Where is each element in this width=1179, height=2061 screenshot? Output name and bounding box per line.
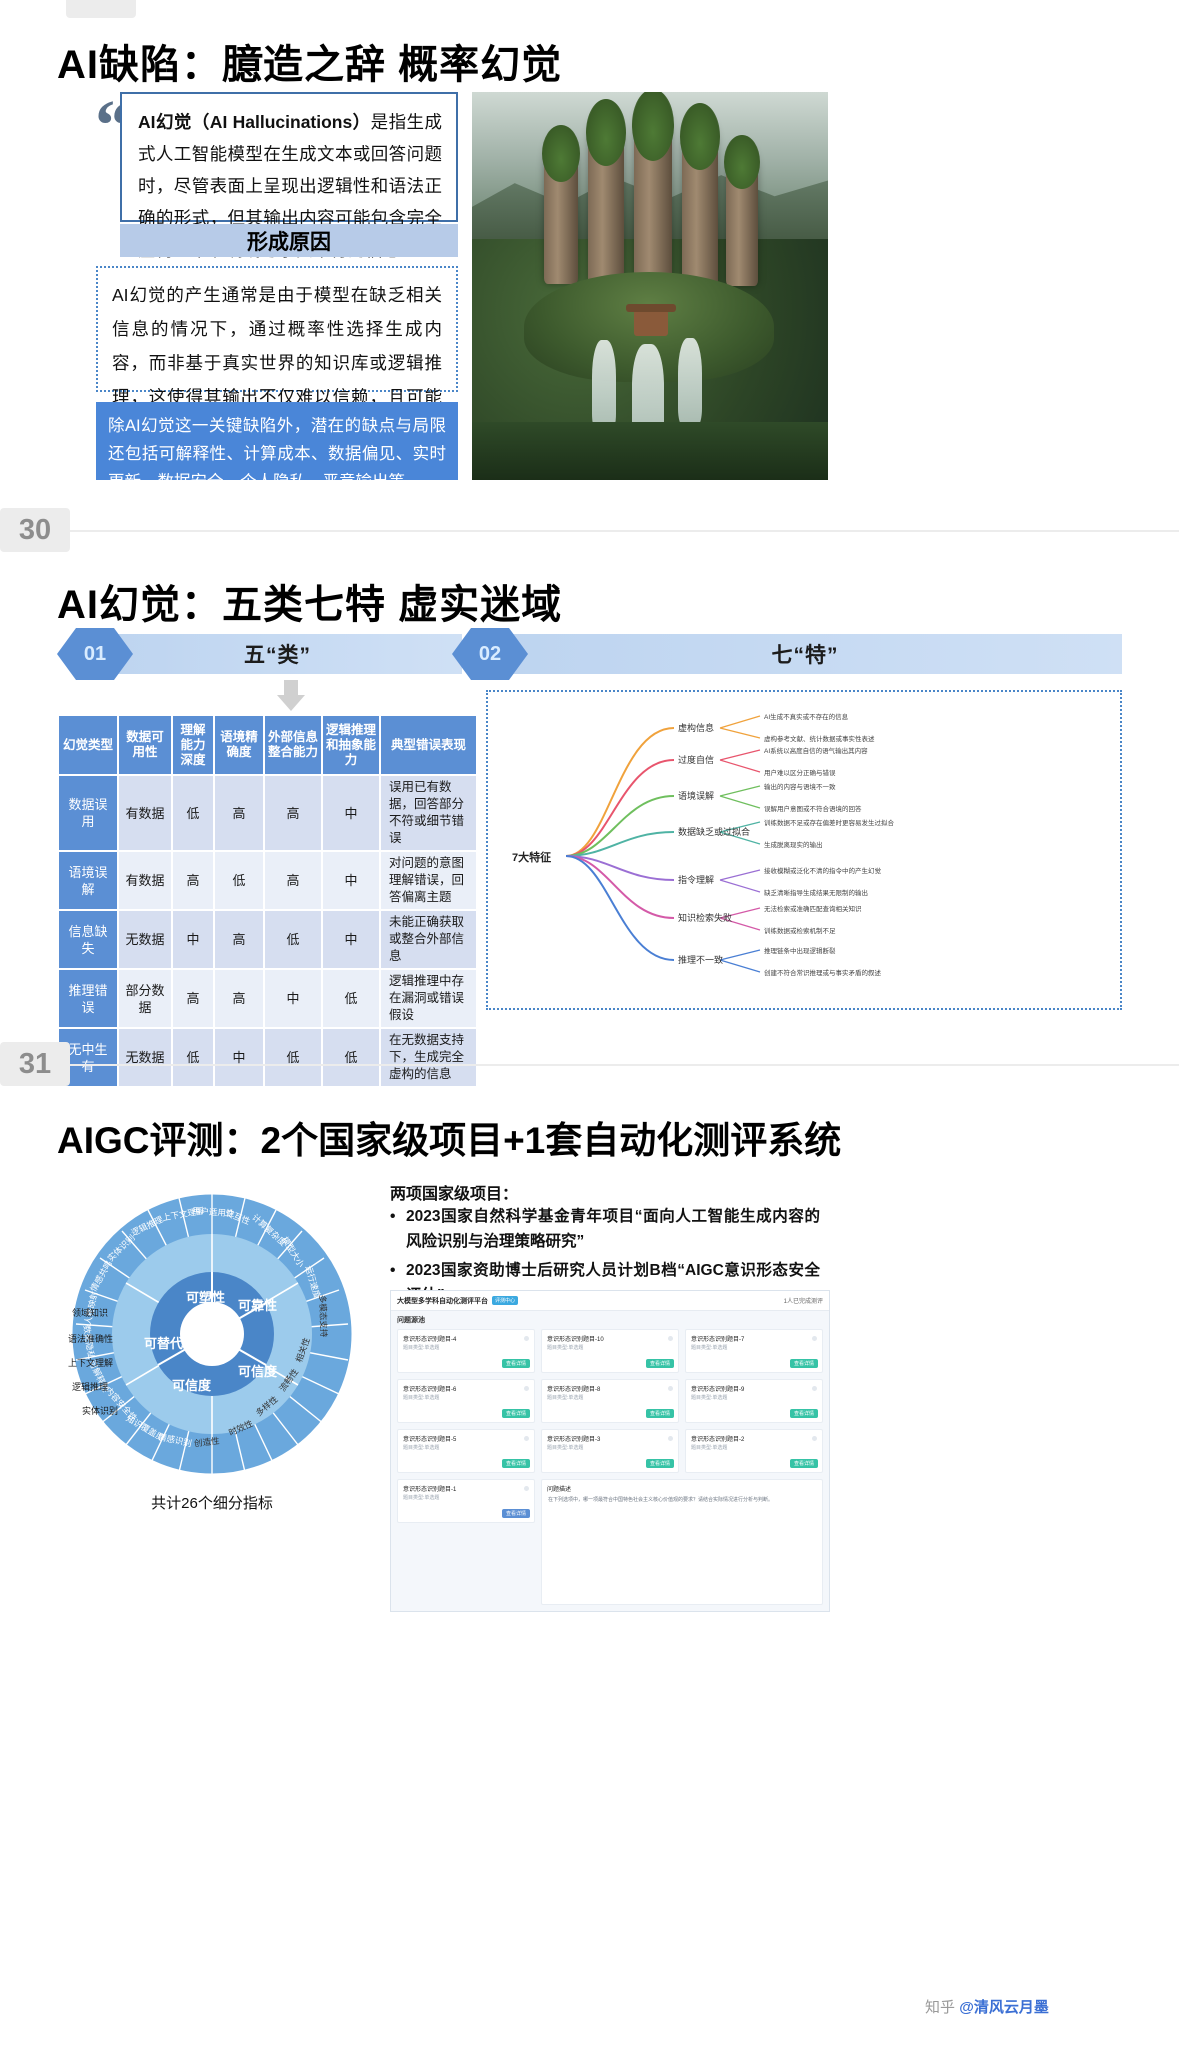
- list-item[interactable]: 意识形态识别题目-4 题目类型:单选题 查看详情: [397, 1329, 535, 1373]
- limitations-note-box: 除AI幻觉这一关键缺陷外，潜在的缺点与局限还包括可解释性、计算成本、数据偏见、实…: [96, 402, 458, 480]
- th-context-accuracy: 语境精确度: [215, 716, 263, 774]
- table-row: 语境误解 有数据 高 低 高 中 对问题的意图理解错误，回答偏离主题: [59, 852, 476, 909]
- list-item[interactable]: 意识形态识别题目-10 题目类型:单选题 查看详情: [541, 1329, 679, 1373]
- card-title: 意识形态识别题目-7: [691, 1334, 744, 1343]
- photo-waterfall-left: [592, 340, 616, 432]
- watermark: 知乎 @清风云月墨: [925, 1996, 1049, 2017]
- cell-context: 高: [215, 911, 263, 968]
- th-external-integration: 外部信息整合能力: [265, 716, 321, 774]
- ruler-30: [0, 530, 1179, 532]
- cell-type: 推理错误: [59, 970, 117, 1027]
- cause-header-label: 形成原因: [247, 226, 331, 256]
- sunburst-hub: [180, 1302, 244, 1366]
- card-action-button[interactable]: 查看详情: [790, 1459, 818, 1468]
- card-action-button[interactable]: 查看详情: [502, 1459, 530, 1468]
- evaluation-platform-screenshot: 大模型多学科自动化测评平台 评测中心 1人已完成测评 问题源池 意识形态识别题目…: [390, 1290, 830, 1612]
- table-row: 推理错误 部分数据 高 高 中 低 逻辑推理中存在漏洞或错误假设: [59, 970, 476, 1027]
- mindmap-branch-label: 指令理解: [678, 873, 714, 886]
- platform-title: 大模型多学科自动化测评平台: [397, 1296, 488, 1306]
- projects-header: 两项国家级项目：: [390, 1180, 518, 1204]
- platform-user-status: 1人已完成测评: [784, 1296, 823, 1305]
- mindmap-branch-label: 语境误解: [678, 789, 714, 802]
- cell-error: 误用已有数据，回答部分不符或细节错误: [381, 776, 476, 850]
- card-status-dot: [524, 1336, 529, 1341]
- card-status-dot: [524, 1486, 529, 1491]
- cell-error: 在无数据支持下，生成完全虚构的信息: [381, 1029, 476, 1086]
- card-title: 意识形态识别题目-8: [547, 1384, 600, 1393]
- photo-foreground-trees: [472, 422, 828, 480]
- cell-error: 逻辑推理中存在漏洞或错误假设: [381, 970, 476, 1027]
- card-title: 意识形态识别题目-6: [403, 1384, 456, 1393]
- stone-finger-1: [544, 134, 578, 284]
- section-02-label: 七“特”: [772, 639, 839, 669]
- cell-data: 部分数据: [119, 970, 171, 1027]
- list-item[interactable]: 意识形态识别题目-3 题目类型:单选题 查看详情: [541, 1429, 679, 1473]
- sunburst-caption: 共计26个细分指标: [62, 1492, 362, 1513]
- card-title: 意识形态识别题目-1: [403, 1484, 456, 1493]
- cause-header-band: 形成原因: [120, 224, 458, 257]
- cell-context: 中: [215, 1029, 263, 1086]
- card-status-dot: [812, 1436, 817, 1441]
- section-band-01-bar: 五“类”: [93, 634, 462, 674]
- cell-depth: 高: [173, 852, 213, 909]
- card-action-button[interactable]: 查看详情: [646, 1359, 674, 1368]
- photo-pagoda: [634, 310, 668, 336]
- mindmap-leaf: AI系统以高度自信的语气输出其内容: [764, 745, 868, 755]
- card-action-button[interactable]: 查看详情: [646, 1409, 674, 1418]
- mindmap-leaf: 接收模糊或泛化不清的指令中的产生幻觉: [764, 865, 881, 875]
- section-01-number: 01: [84, 643, 106, 666]
- mindmap-leaf: 虚构参考文献、统计数据或事实性表述: [764, 733, 875, 743]
- th-type: 幻觉类型: [59, 716, 117, 774]
- page-number-30: 30: [0, 508, 70, 552]
- card-action-button[interactable]: 查看详情: [790, 1409, 818, 1418]
- cell-depth: 中: [173, 911, 213, 968]
- cell-external: 低: [265, 1029, 321, 1086]
- page-number-31: 31: [0, 1042, 70, 1086]
- mindmap-leaf: 创建不符合常识推理或与事实矛盾的叙述: [764, 967, 881, 977]
- mindmap-leaf: 用户难以区分正确与错误: [764, 767, 836, 777]
- card-action-button[interactable]: 查看详情: [502, 1409, 530, 1418]
- platform-topbar: 大模型多学科自动化测评平台 评测中心 1人已完成测评: [391, 1291, 829, 1311]
- stone-finger-4: [682, 114, 718, 290]
- platform-section-label: 问题源池: [397, 1315, 425, 1325]
- slide-aigc-evaluation: AIGC评测：2个国家级项目+1套自动化测评系统: [0, 1092, 1179, 1972]
- card-subtitle: 题目类型:单选题: [691, 1394, 727, 1401]
- slide-ai-defect: AI缺陷：臆造之辞 概率幻觉 “ AI幻觉（AI Hallucinations）…: [0, 0, 1179, 520]
- card-action-button[interactable]: 查看详情: [790, 1359, 818, 1368]
- page-title-slide1: AI缺陷：臆造之辞 概率幻觉: [57, 32, 562, 90]
- definition-box: AI幻觉（AI Hallucinations）是指生成式人工智能模型在生成文本或…: [120, 92, 458, 222]
- card-title: 意识形态识别题目-5: [403, 1434, 456, 1443]
- sunburst-inner-label: 可靠性: [238, 1298, 277, 1313]
- card-status-dot: [668, 1336, 673, 1341]
- section-01-label: 五“类”: [244, 639, 311, 669]
- card-status-dot: [524, 1386, 529, 1391]
- card-subtitle: 题目类型:单选题: [403, 1494, 439, 1501]
- th-logic-abstraction: 逻辑推理和抽象能力: [323, 716, 379, 774]
- seven-features-mindmap: 7大特征 虚构信息 AI生成不真实或不存在的信息 虚构参考文献、统计数据或事实性…: [486, 690, 1122, 1010]
- list-item[interactable]: 意识形态识别题目-7 题目类型:单选题 查看详情: [685, 1329, 823, 1373]
- mindmap-branch-label: 推理不一致: [678, 953, 723, 966]
- cell-depth: 低: [173, 776, 213, 850]
- section-02-number: 02: [479, 643, 501, 666]
- card-title: 意识形态识别题目-3: [547, 1434, 600, 1443]
- list-item[interactable]: 意识形态识别题目-9 题目类型:单选题 查看详情: [685, 1379, 823, 1423]
- mindmap-leaf: 训练数据或检索机制不足: [764, 925, 836, 935]
- cell-depth: 高: [173, 970, 213, 1027]
- cell-external: 中: [265, 970, 321, 1027]
- sunburst-inner-label: 可信度: [172, 1378, 212, 1393]
- stone-finger-3: [634, 100, 672, 290]
- cell-data: 有数据: [119, 776, 171, 850]
- photo-waterfall-right: [678, 338, 702, 426]
- sunburst-inner-label: 可塑性: [186, 1290, 225, 1305]
- mindmap-leaf: 缺乏清晰指导生成结果无限制的输出: [764, 887, 868, 897]
- platform-badge: 评测中心: [492, 1296, 518, 1305]
- cell-type: 数据误用: [59, 776, 117, 850]
- list-item[interactable]: 意识形态识别题目-1 题目类型:单选题 查看详情: [397, 1479, 535, 1523]
- mindmap-leaf: 无法检索或准确匹配查询相关知识: [764, 903, 862, 913]
- hero-photo: [472, 92, 828, 480]
- cell-external: 低: [265, 911, 321, 968]
- th-data-availability: 数据可用性: [119, 716, 171, 774]
- cell-external: 高: [265, 852, 321, 909]
- definition-term: AI幻觉（AI Hallucinations）: [138, 112, 371, 132]
- card-status-dot: [812, 1386, 817, 1391]
- section-band-02-bar: 七“特”: [488, 634, 1122, 674]
- cell-context: 高: [215, 776, 263, 850]
- table-row: 无中生有 无数据 低 中 低 低 在无数据支持下，生成完全虚构的信息: [59, 1029, 476, 1086]
- stone-finger-2: [588, 110, 624, 286]
- table-row: 信息缺失 无数据 中 高 低 中 未能正确获取或整合外部信息: [59, 911, 476, 968]
- mindmap-leaf: 输出的内容与语境不一致: [764, 781, 836, 791]
- question-detail-panel: 问题描述 在下列选项中，哪一项最符合中国特色社会主义核心价值观的要求？请结合实际…: [541, 1479, 823, 1605]
- mindmap-branch-label: 过度自信: [678, 753, 714, 766]
- cell-logic: 中: [323, 776, 379, 850]
- cell-type: 信息缺失: [59, 911, 117, 968]
- card-status-dot: [668, 1436, 673, 1441]
- sunburst-svg: 可塑性 可靠性 可信度 可信度 可替代性: [62, 1184, 362, 1484]
- ruler-31: [0, 1064, 1179, 1066]
- card-subtitle: 题目类型:单选题: [403, 1394, 439, 1401]
- limitations-note-text: 除AI幻觉这一关键缺陷外，潜在的缺点与局限还包括可解释性、计算成本、数据偏见、实…: [108, 412, 446, 496]
- cell-data: 无数据: [119, 911, 171, 968]
- mindmap-leaf: 推理链条中出现逻辑断裂: [764, 945, 836, 955]
- sunburst-inner-label: 可信度: [238, 1364, 278, 1379]
- watermark-prefix: 知乎: [925, 1999, 955, 2016]
- question-detail-title: 问题描述: [547, 1484, 571, 1493]
- slide-ai-hallucination-types: AI幻觉：五类七特 虚实迷域 五“类” 01 七“特” 02 幻觉类型 数据可用…: [0, 556, 1179, 1056]
- watermark-handle: @清风云月墨: [959, 1999, 1049, 2016]
- table-row: 数据误用 有数据 低 高 高 中 误用已有数据，回答部分不符或细节错误: [59, 776, 476, 850]
- list-item[interactable]: 意识形态识别题目-8 题目类型:单选题 查看详情: [541, 1379, 679, 1423]
- card-subtitle: 题目类型:单选题: [691, 1344, 727, 1351]
- sunburst-inner-label: 可替代性: [144, 1336, 196, 1351]
- cell-logic: 中: [323, 852, 379, 909]
- question-detail-text: 在下列选项中，哪一项最符合中国特色社会主义核心价值观的要求？请结合实际情况进行分…: [548, 1496, 816, 1504]
- cell-logic: 低: [323, 970, 379, 1027]
- mindmap-branch-label: 知识检索失败: [678, 911, 732, 924]
- section-band-01: 五“类” 01: [57, 634, 462, 674]
- card-subtitle: 题目类型:单选题: [547, 1394, 583, 1401]
- mindmap-branch-label: 虚构信息: [678, 721, 714, 734]
- top-chip: [66, 0, 136, 18]
- hallucination-types-table: 幻觉类型 数据可用性 理解能力深度 语境精确度 外部信息整合能力 逻辑推理和抽象…: [57, 714, 478, 1088]
- card-subtitle: 题目类型:单选题: [691, 1444, 727, 1451]
- card-status-dot: [668, 1386, 673, 1391]
- cell-logic: 中: [323, 911, 379, 968]
- cell-error: 未能正确获取或整合外部信息: [381, 911, 476, 968]
- cell-type: 语境误解: [59, 852, 117, 909]
- cell-data: 有数据: [119, 852, 171, 909]
- th-comprehension-depth: 理解能力深度: [173, 716, 213, 774]
- card-subtitle: 题目类型:单选题: [403, 1344, 439, 1351]
- mindmap-leaf: 生成脱离现实的输出: [764, 839, 823, 849]
- mindmap-root-label: 7大特征: [512, 849, 551, 865]
- list-item[interactable]: 意识形态识别题目-6 题目类型:单选题 查看详情: [397, 1379, 535, 1423]
- section-band-02: 七“特” 02: [452, 634, 1122, 674]
- th-typical-error: 典型错误表现: [381, 716, 476, 774]
- table-header-row: 幻觉类型 数据可用性 理解能力深度 语境精确度 外部信息整合能力 逻辑推理和抽象…: [59, 716, 476, 774]
- cell-context: 低: [215, 852, 263, 909]
- photo-pagoda-roof: [626, 304, 676, 312]
- list-item[interactable]: 意识形态识别题目-5 题目类型:单选题 查看详情: [397, 1429, 535, 1473]
- card-action-button[interactable]: 查看详情: [646, 1459, 674, 1468]
- card-title: 意识形态识别题目-10: [547, 1334, 604, 1343]
- slide1-title-bar: [0, 0, 1179, 20]
- cell-context: 高: [215, 970, 263, 1027]
- page-title-slide3: AIGC评测：2个国家级项目+1套自动化测评系统: [57, 1110, 841, 1164]
- capability-sunburst-chart: 可塑性 可靠性 可信度 可信度 可替代性 用户适用性 交互性 计算复杂度 模型大…: [62, 1184, 362, 1484]
- list-item: 2023国家自然科学基金青年项目“面向人工智能生成内容的风险识别与治理策略研究”: [390, 1204, 820, 1254]
- page-title-slide2: AI幻觉：五类七特 虚实迷域: [57, 572, 562, 630]
- mindmap-branch-label: 数据缺乏或过拟合: [678, 825, 750, 838]
- card-subtitle: 题目类型:单选题: [403, 1444, 439, 1451]
- card-title: 意识形态识别题目-4: [403, 1334, 456, 1343]
- stone-finger-5: [726, 144, 758, 286]
- mindmap-leaf: AI生成不真实或不存在的信息: [764, 711, 848, 721]
- cell-external: 高: [265, 776, 321, 850]
- card-status-dot: [812, 1336, 817, 1341]
- cause-body-box: AI幻觉的产生通常是由于模型在缺乏相关信息的情况下，通过概率性选择生成内容，而非…: [96, 266, 458, 392]
- card-subtitle: 题目类型:单选题: [547, 1444, 583, 1451]
- mindmap-leaf: 训练数据不足或存在偏差时更容易发生过拟合: [764, 817, 894, 827]
- card-title: 意识形态识别题目-9: [691, 1384, 744, 1393]
- card-action-button[interactable]: 查看详情: [502, 1509, 530, 1518]
- list-item[interactable]: 意识形态识别题目-2 题目类型:单选题 查看详情: [685, 1429, 823, 1473]
- cell-depth: 低: [173, 1029, 213, 1086]
- cell-data: 无数据: [119, 1029, 171, 1086]
- down-arrow-icon: [277, 680, 305, 712]
- card-status-dot: [524, 1436, 529, 1441]
- card-action-button[interactable]: 查看详情: [502, 1359, 530, 1368]
- mindmap-leaf: 误解用户意图或不符合语境的回答: [764, 803, 862, 813]
- cell-error: 对问题的意图理解错误，回答偏离主题: [381, 852, 476, 909]
- cell-logic: 低: [323, 1029, 379, 1086]
- card-subtitle: 题目类型:单选题: [547, 1344, 583, 1351]
- card-title: 意识形态识别题目-2: [691, 1434, 744, 1443]
